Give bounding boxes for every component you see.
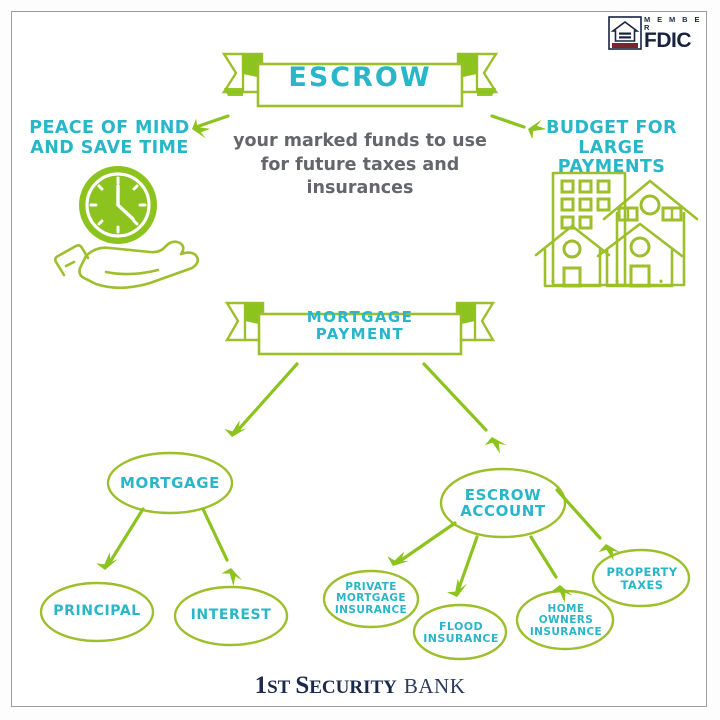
- mortgage-payment-ribbon: MORTGAGE PAYMENT: [240, 300, 480, 352]
- infographic-root: M E M B E R FDIC .gstroke{fill:none;stro…: [0, 0, 720, 720]
- footer-brand: 1STSECURITYBANK: [0, 672, 720, 700]
- node-label-mortgage: MORTGAGE: [108, 466, 232, 500]
- node-label-property-taxes: PROPERTY TAXES: [597, 563, 687, 595]
- node-label-interest: INTEREST: [175, 602, 287, 630]
- callout-right-line-2: LARGE PAYMENTS: [524, 139, 699, 178]
- pmi-line-3: INSURANCE: [335, 605, 407, 617]
- callout-peace-of-mind: PEACE OF MIND AND SAVE TIME: [22, 119, 197, 158]
- brand-bank: BANK: [404, 674, 466, 698]
- brand-st-suffix: ST: [267, 677, 290, 698]
- home-owners-line-3: INSURANCE: [530, 627, 602, 639]
- clock-on-hand-icon: [55, 166, 197, 288]
- subtitle-line-2: for future taxes and: [215, 154, 505, 178]
- mortgage-line-1: MORTGAGE: [120, 475, 220, 492]
- node-label-home-owners-insurance: HOME OWNERS INSURANCE: [521, 600, 611, 642]
- arrow-mortgage-to-interest: [203, 509, 243, 589]
- property-taxes-line-2: TAXES: [621, 579, 664, 592]
- escrow-ribbon: ESCROW: [238, 50, 482, 105]
- callout-left-line-2: AND SAVE TIME: [22, 139, 197, 159]
- escrow-account-line-1: ESCROW: [465, 487, 542, 504]
- brand-1st: 1ST: [255, 672, 291, 699]
- brand-numeral: 1: [255, 672, 268, 699]
- subtitle-line-1: your marked funds to use: [215, 130, 505, 154]
- mortgage-payment-title: MORTGAGE PAYMENT: [240, 300, 480, 352]
- escrow-account-line-2: ACCOUNT: [460, 503, 546, 520]
- interest-line-1: INTEREST: [191, 608, 272, 623]
- arrow-mortgage-to-principal: [96, 509, 143, 573]
- escrow-title: ESCROW: [238, 50, 482, 105]
- callout-budget-for-large-payments: BUDGET FOR LARGE PAYMENTS: [524, 119, 699, 178]
- brand-security-rest: ECURITY: [309, 677, 397, 698]
- node-label-flood-insurance: FLOOD INSURANCE: [418, 618, 504, 648]
- node-label-principal: PRINCIPAL: [41, 598, 153, 626]
- brand-security: SECURITY: [295, 672, 397, 699]
- arrow-payment-to-escrow-account: [424, 364, 508, 457]
- node-label-escrow-account: ESCROW ACCOUNT: [441, 482, 565, 524]
- arrow-escrow-to-flood: [447, 537, 477, 599]
- mortgage-payment-line-1: MORTGAGE: [307, 309, 413, 326]
- callout-right-line-1: BUDGET FOR: [524, 119, 699, 139]
- arrow-escrow-to-property-taxes: [557, 490, 621, 564]
- brand-security-cap: S: [295, 672, 309, 699]
- buildings-houses-icon: [536, 173, 697, 286]
- callout-left-line-1: PEACE OF MIND: [22, 119, 197, 139]
- principal-line-1: PRINCIPAL: [53, 604, 141, 619]
- flood-line-2: INSURANCE: [423, 633, 499, 645]
- escrow-subtitle: your marked funds to use for future taxe…: [215, 130, 505, 201]
- arrow-payment-to-mortgage: [224, 364, 297, 440]
- arrow-escrow-to-pmi: [387, 523, 455, 570]
- node-label-private-mortgage-insurance: PRIVATE MORTGAGE INSURANCE: [328, 578, 414, 620]
- subtitle-line-3: insurances: [215, 177, 505, 201]
- mortgage-payment-line-2: PAYMENT: [316, 326, 404, 343]
